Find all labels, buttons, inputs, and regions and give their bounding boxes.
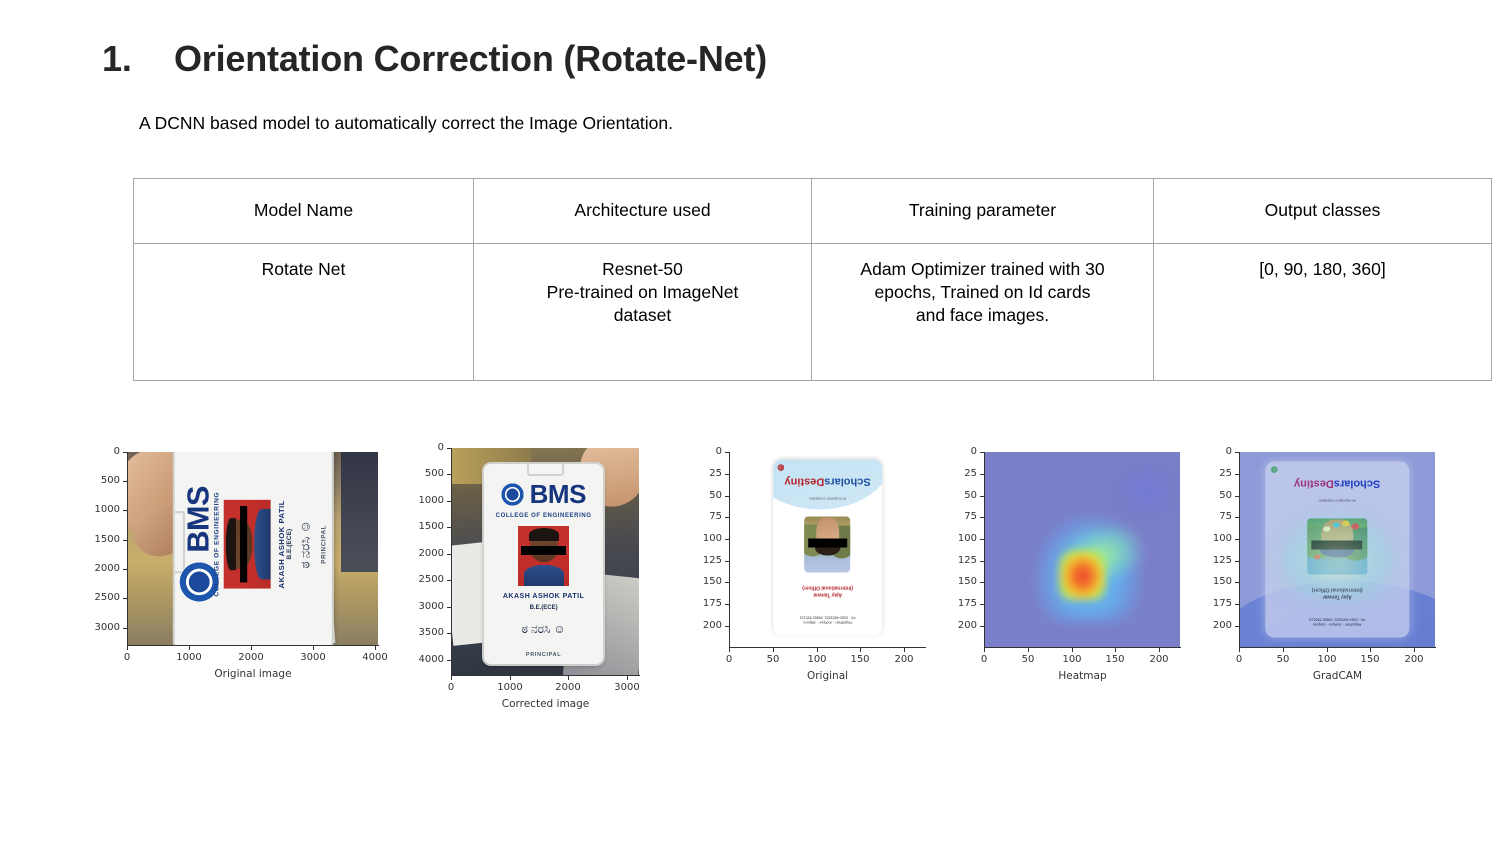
y-tick-label: 1000 xyxy=(78,505,120,515)
slide-number: 1. xyxy=(102,38,174,80)
architecture-line-3: dataset xyxy=(482,304,803,327)
x-tick-label: 0 xyxy=(1219,655,1259,665)
y-tick-label: 500 xyxy=(78,476,120,486)
y-axis-spine xyxy=(451,448,452,676)
y-tick-label: 2000 xyxy=(405,549,444,559)
y-tick-label: 100 xyxy=(1205,534,1232,544)
x-tick-label: 200 xyxy=(1139,655,1179,665)
x-tick xyxy=(568,676,569,680)
y-tick-label: 1500 xyxy=(405,522,444,532)
cell-model-name: Rotate Net xyxy=(134,244,474,381)
y-tick-label: 0 xyxy=(405,443,444,453)
y-tick-label: 100 xyxy=(950,534,977,544)
y-tick xyxy=(447,448,451,449)
photo-torso xyxy=(254,510,270,580)
photo-hair xyxy=(225,518,235,571)
y-tick xyxy=(980,626,984,627)
y-tick-label: 50 xyxy=(950,491,977,501)
x-tick xyxy=(189,646,190,650)
gradcam-canvas: Rajasthan - Jodhpur - Jalipura Ph : 0282… xyxy=(1240,452,1435,647)
y-tick xyxy=(725,604,729,605)
x-tick-label: 1000 xyxy=(490,683,530,693)
holder-degree-text: B.E.(ECE) xyxy=(489,605,599,611)
y-tick-label: 4000 xyxy=(405,655,444,665)
holder-name-text: AKASH ASHOK PATIL xyxy=(276,452,285,641)
x-tick-label: 0 xyxy=(709,655,749,665)
x-axis-spine xyxy=(451,675,640,676)
x-tick-label: 0 xyxy=(107,653,147,663)
y-tick xyxy=(980,474,984,475)
x-tick-label: 200 xyxy=(1394,655,1434,665)
y-tick xyxy=(980,582,984,583)
bms-brand-text: BMS xyxy=(181,487,216,553)
x-tick xyxy=(1028,648,1029,652)
y-tick xyxy=(980,496,984,497)
brand-mark-icon: ◍ xyxy=(1271,465,1278,474)
x-tick-label: 100 xyxy=(1307,655,1347,665)
original-224-canvas: Rajasthan - Jodhpur - Jalipura Ph : 0282… xyxy=(730,452,925,647)
x-tick xyxy=(729,648,730,652)
x-tick-label: 0 xyxy=(964,655,1004,665)
figure-gradcam: Rajasthan - Jodhpur - Jalipura Ph : 0282… xyxy=(1205,408,1450,698)
y-tick xyxy=(123,481,127,482)
heatmap-secondary-blob xyxy=(1122,468,1173,515)
card-tagline: An Inspiration Compilation xyxy=(779,497,875,501)
x-tick xyxy=(127,646,128,650)
card-brand-row: BMS xyxy=(187,453,211,637)
y-tick xyxy=(980,539,984,540)
y-tick-label: 125 xyxy=(950,556,977,566)
y-tick xyxy=(123,569,127,570)
card-clip-icon xyxy=(527,464,565,476)
y-tick xyxy=(447,501,451,502)
x-tick xyxy=(1370,648,1371,652)
x-tick xyxy=(510,676,511,680)
y-tick xyxy=(447,527,451,528)
y-tick-label: 25 xyxy=(950,469,977,479)
card-brand-logo: ScholarsDestiny xyxy=(779,476,875,487)
table-header-training-parameter: Training parameter xyxy=(812,179,1154,244)
y-tick xyxy=(1235,517,1239,518)
figure-corrected-image: BMS COLLEGE OF ENGINEERING AKASH ASHOK P… xyxy=(405,408,675,718)
x-tick-label: 1000 xyxy=(169,653,209,663)
y-tick xyxy=(123,628,127,629)
photo-torso xyxy=(524,565,564,585)
card-person-text: Ajay Tanwar (International Officer) xyxy=(779,584,875,598)
bms-college-text: COLLEGE OF ENGINEERING xyxy=(213,452,220,641)
principal-text: PRINCIPAL xyxy=(489,652,599,658)
table-header-output-classes: Output classes xyxy=(1154,179,1492,244)
y-tick xyxy=(725,626,729,627)
x-axis-spine xyxy=(127,645,379,646)
x-axis-label: GradCAM xyxy=(1239,671,1436,682)
y-tick xyxy=(725,517,729,518)
x-tick-label: 4000 xyxy=(355,653,395,663)
y-tick-label: 75 xyxy=(950,512,977,522)
gradcam-activation-glow xyxy=(1275,511,1400,601)
y-tick-label: 2000 xyxy=(78,564,120,574)
y-tick xyxy=(1235,539,1239,540)
y-tick-label: 125 xyxy=(1205,556,1232,566)
y-tick xyxy=(1235,561,1239,562)
y-tick-label: 0 xyxy=(1205,447,1232,457)
bms-logo-icon xyxy=(501,483,524,506)
y-tick-label: 175 xyxy=(1205,599,1232,609)
figure-original-224: Rajasthan - Jodhpur - Jalipura Ph : 0282… xyxy=(695,408,940,698)
page-title: 1.Orientation Correction (Rotate-Net) xyxy=(102,38,767,80)
y-tick xyxy=(725,452,729,453)
y-tick xyxy=(447,660,451,661)
x-tick-label: 0 xyxy=(431,683,471,693)
y-axis-spine xyxy=(984,452,985,648)
x-axis-label: Heatmap xyxy=(984,671,1181,682)
y-tick-label: 1500 xyxy=(78,535,120,545)
x-tick xyxy=(1159,648,1160,652)
x-tick xyxy=(1072,648,1073,652)
y-axis-spine xyxy=(729,452,730,648)
card-contact-text: Rajasthan - Jodhpur - Jalipura Ph : 0282… xyxy=(1274,616,1401,626)
y-tick xyxy=(447,580,451,581)
table-header-architecture: Architecture used xyxy=(474,179,812,244)
redaction-bar xyxy=(239,506,246,583)
y-tick-label: 200 xyxy=(950,621,977,631)
x-tick-label: 50 xyxy=(1263,655,1303,665)
x-tick-label: 100 xyxy=(1052,655,1092,665)
x-tick xyxy=(1327,648,1328,652)
y-tick xyxy=(1235,496,1239,497)
y-tick xyxy=(447,633,451,634)
y-tick xyxy=(980,561,984,562)
x-axis-label: Corrected image xyxy=(451,699,640,710)
y-tick xyxy=(980,604,984,605)
signature-icon: ಠ ನರಸಿ ☺ xyxy=(296,457,315,633)
x-tick-label: 150 xyxy=(1095,655,1135,665)
y-tick xyxy=(1235,604,1239,605)
bms-brand-text: BMS xyxy=(530,479,586,510)
y-tick-label: 50 xyxy=(695,491,722,501)
y-tick-label: 150 xyxy=(950,577,977,587)
original-image-canvas: BMS COLLEGE OF ENGINEERING AKASH ASHOK P… xyxy=(128,452,378,645)
table-row: Rotate Net Resnet-50 Pre-trained on Imag… xyxy=(134,244,1492,381)
table-header-row: Model Name Architecture used Training pa… xyxy=(134,179,1492,244)
y-tick-label: 175 xyxy=(695,599,722,609)
architecture-line-1: Resnet-50 xyxy=(482,258,803,281)
y-tick xyxy=(123,452,127,453)
y-tick-label: 2500 xyxy=(78,593,120,603)
x-tick-label: 3000 xyxy=(607,683,647,693)
x-tick xyxy=(451,676,452,680)
x-tick xyxy=(375,646,376,650)
x-tick xyxy=(251,646,252,650)
y-tick xyxy=(1235,582,1239,583)
y-tick xyxy=(725,474,729,475)
scholars-destiny-card-wrap: Rajasthan - Jodhpur - Jalipura Ph : 0282… xyxy=(773,460,882,636)
x-tick-label: 150 xyxy=(840,655,880,665)
y-tick-label: 125 xyxy=(695,556,722,566)
y-tick-label: 0 xyxy=(695,447,722,457)
holder-photo xyxy=(518,526,568,586)
bms-college-text: COLLEGE OF ENGINEERING xyxy=(489,513,599,519)
y-tick-label: 25 xyxy=(695,469,722,479)
y-tick-label: 0 xyxy=(78,447,120,457)
x-tick xyxy=(904,648,905,652)
y-tick xyxy=(980,452,984,453)
y-tick-label: 3000 xyxy=(405,602,444,612)
training-line-1: Adam Optimizer trained with 30 xyxy=(820,258,1145,281)
x-axis-label: Original image xyxy=(127,669,379,680)
redaction-bar xyxy=(521,546,565,555)
bms-id-card: BMS COLLEGE OF ENGINEERING AKASH ASHOK P… xyxy=(174,452,331,645)
card-brand-row: BMS xyxy=(491,480,596,510)
y-tick-label: 3500 xyxy=(405,628,444,638)
x-tick xyxy=(627,676,628,680)
principal-text: PRINCIPAL xyxy=(321,452,327,641)
model-spec-table: Model Name Architecture used Training pa… xyxy=(133,178,1492,381)
brand-mark-icon: ◍ xyxy=(777,463,784,472)
x-axis-label: Original xyxy=(729,671,926,682)
y-tick xyxy=(725,496,729,497)
y-tick xyxy=(123,540,127,541)
y-tick-label: 1000 xyxy=(405,496,444,506)
y-tick xyxy=(447,474,451,475)
y-axis-spine xyxy=(127,452,128,646)
x-tick-label: 2000 xyxy=(231,653,271,663)
y-tick-label: 200 xyxy=(695,621,722,631)
x-tick xyxy=(860,648,861,652)
y-tick-label: 175 xyxy=(950,599,977,609)
corrected-image-canvas: BMS COLLEGE OF ENGINEERING AKASH ASHOK P… xyxy=(452,448,639,675)
cell-architecture: Resnet-50 Pre-trained on ImageNet datase… xyxy=(474,244,812,381)
heatmap-canvas xyxy=(985,452,1180,647)
x-axis-spine xyxy=(1239,647,1436,648)
x-tick xyxy=(773,648,774,652)
x-tick xyxy=(984,648,985,652)
y-tick-label: 0 xyxy=(950,447,977,457)
figure-original-image: BMS COLLEGE OF ENGINEERING AKASH ASHOK P… xyxy=(78,408,398,708)
heatmap-hot-core xyxy=(1059,550,1106,601)
holder-photo xyxy=(805,516,851,572)
redaction-bar xyxy=(808,538,847,547)
y-tick-label: 75 xyxy=(1205,512,1232,522)
x-tick-label: 50 xyxy=(1008,655,1048,665)
y-axis-spine xyxy=(1239,452,1240,648)
bms-id-card: BMS COLLEGE OF ENGINEERING AKASH ASHOK P… xyxy=(484,464,604,664)
y-tick xyxy=(980,517,984,518)
y-tick-label: 150 xyxy=(1205,577,1232,587)
y-tick-label: 25 xyxy=(1205,469,1232,479)
y-tick-label: 100 xyxy=(695,534,722,544)
y-tick-label: 200 xyxy=(1205,621,1232,631)
x-tick xyxy=(1414,648,1415,652)
cell-output-classes: [0, 90, 180, 360] xyxy=(1154,244,1492,381)
card-tagline: An Inspiration Compilation xyxy=(1274,499,1401,503)
y-tick-label: 2500 xyxy=(405,575,444,585)
holder-degree-text: B.E.(ECE) xyxy=(285,452,292,641)
y-tick-label: 500 xyxy=(405,469,444,479)
photo-hair xyxy=(529,528,559,541)
y-tick xyxy=(725,561,729,562)
x-tick-label: 200 xyxy=(884,655,924,665)
training-line-3: and face images. xyxy=(820,304,1145,327)
x-tick xyxy=(817,648,818,652)
x-tick xyxy=(1115,648,1116,652)
page-subtitle: A DCNN based model to automatically corr… xyxy=(139,113,673,134)
x-tick-label: 2000 xyxy=(548,683,588,693)
scholars-destiny-card: Rajasthan - Jodhpur - Jalipura Ph : 0282… xyxy=(773,460,882,636)
table-header-model-name: Model Name xyxy=(134,179,474,244)
y-tick-label: 50 xyxy=(1205,491,1232,501)
y-tick-label: 150 xyxy=(695,577,722,587)
x-axis-spine xyxy=(984,647,1181,648)
figure-row: BMS COLLEGE OF ENGINEERING AKASH ASHOK P… xyxy=(0,408,1500,728)
y-tick-label: 3000 xyxy=(78,623,120,633)
y-tick xyxy=(447,607,451,608)
card-brand-logo: ScholarsDestiny xyxy=(1274,478,1401,489)
y-tick xyxy=(1235,626,1239,627)
x-tick-label: 150 xyxy=(1350,655,1390,665)
signature-icon: ಠ ನರಸಿ ☺ xyxy=(493,618,594,642)
x-tick xyxy=(1283,648,1284,652)
y-tick xyxy=(725,539,729,540)
y-tick xyxy=(447,554,451,555)
cell-training-parameter: Adam Optimizer trained with 30 epochs, T… xyxy=(812,244,1154,381)
x-tick xyxy=(313,646,314,650)
y-tick xyxy=(123,598,127,599)
x-tick-label: 3000 xyxy=(293,653,333,663)
training-line-2: epochs, Trained on Id cards xyxy=(820,281,1145,304)
y-tick xyxy=(1235,452,1239,453)
figure-heatmap: 0 25 50 75 100 125 150 175 200 0 50 100 … xyxy=(950,408,1195,698)
y-tick xyxy=(1235,474,1239,475)
y-tick xyxy=(725,582,729,583)
x-tick-label: 50 xyxy=(753,655,793,665)
y-tick-label: 75 xyxy=(695,512,722,522)
x-axis-spine xyxy=(729,647,926,648)
x-tick-label: 100 xyxy=(797,655,837,665)
holder-name-text: AKASH ASHOK PATIL xyxy=(489,593,599,600)
card-contact-text: Rajasthan - Jodhpur - Jalipura Ph : 0282… xyxy=(779,614,875,624)
scene-dark-region xyxy=(341,452,379,572)
heatmap-field xyxy=(985,452,1180,647)
x-tick xyxy=(1239,648,1240,652)
architecture-line-2: Pre-trained on ImageNet xyxy=(482,281,803,304)
holder-photo xyxy=(223,501,270,589)
y-tick xyxy=(123,510,127,511)
slide-title-text: Orientation Correction (Rotate-Net) xyxy=(174,38,767,79)
